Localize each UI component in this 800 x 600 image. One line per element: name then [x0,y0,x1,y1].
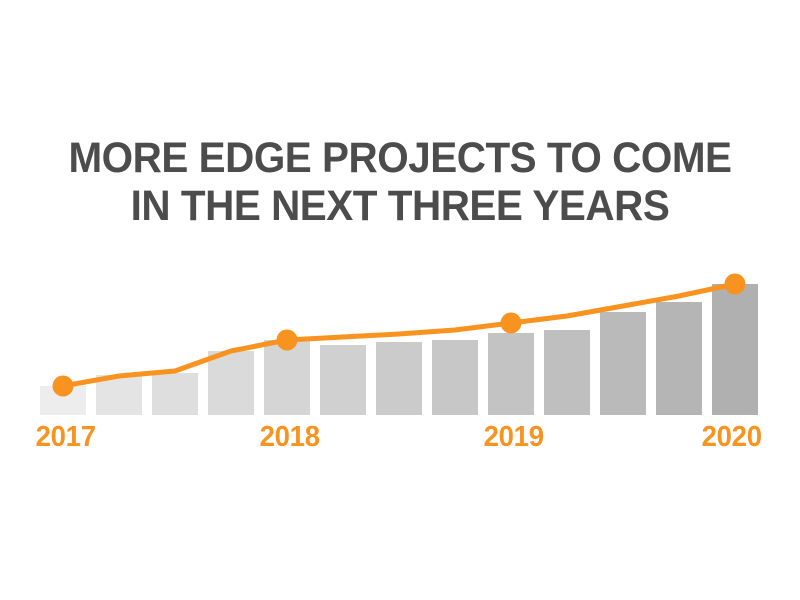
bar [376,342,422,415]
title-line-2: IN THE NEXT THREE YEARS [24,182,776,230]
bar [488,333,534,415]
year-label-2018: 2018 [260,422,320,452]
bar [544,330,590,415]
bar [40,386,86,415]
year-label-2017: 2017 [36,422,96,452]
title-line-1: MORE EDGE PROJECTS TO COME [24,134,776,182]
page-title: MORE EDGE PROJECTS TO COME IN THE NEXT T… [0,134,800,230]
bar [208,351,254,415]
growth-chart: 2017201820192020 [0,250,800,470]
bar [264,340,310,415]
bars-layer [0,250,800,470]
bar [152,373,198,415]
year-label-2019: 2019 [484,422,544,452]
infographic-canvas: MORE EDGE PROJECTS TO COME IN THE NEXT T… [0,0,800,600]
bar [712,284,758,415]
bar [656,302,702,415]
bar [600,312,646,415]
bar [320,345,366,415]
year-label-2020: 2020 [702,422,762,452]
bar [432,340,478,415]
bar [96,375,142,415]
